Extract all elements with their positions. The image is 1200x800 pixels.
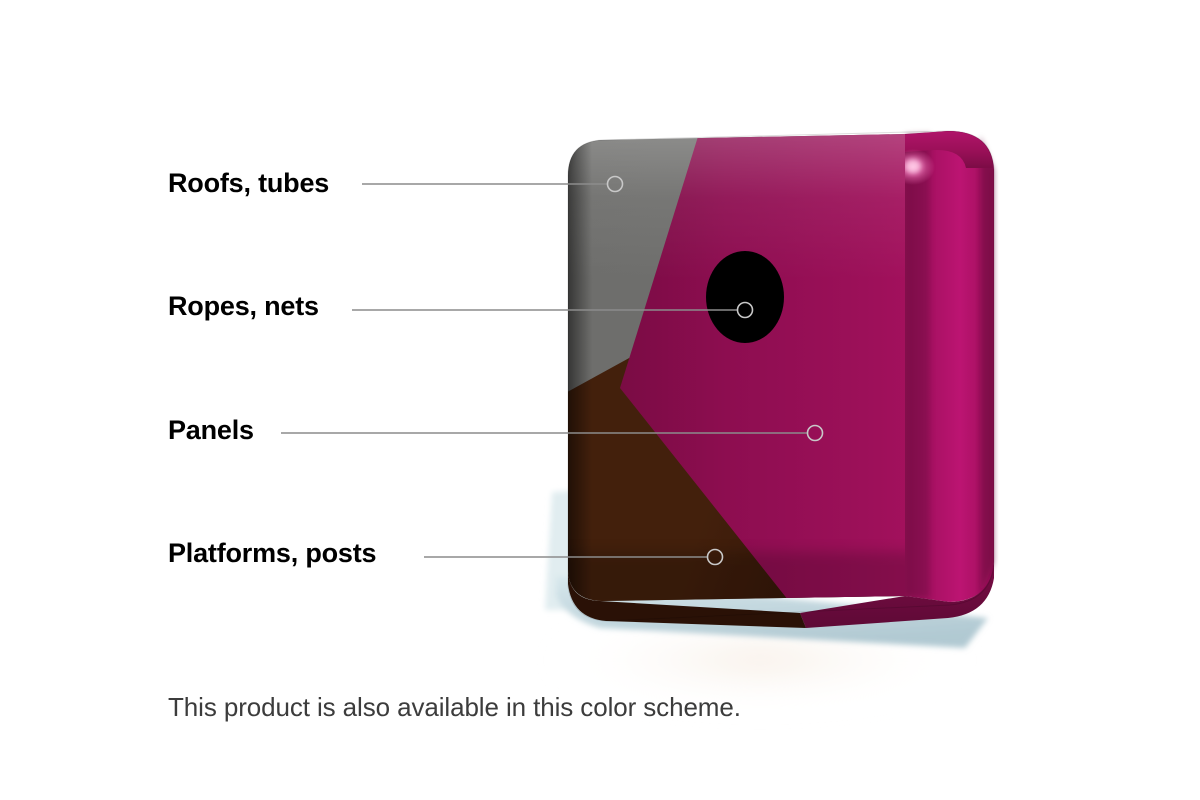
- callout-label-roofs-tubes: Roofs, tubes: [168, 170, 329, 197]
- callout-leader-lines: [0, 0, 1200, 800]
- callout-marker-circle-icon[interactable]: [708, 550, 723, 565]
- callout-label-panels: Panels: [168, 417, 254, 444]
- callout-marker-circle-icon[interactable]: [738, 303, 753, 318]
- callout-marker-circle-icon[interactable]: [608, 177, 623, 192]
- callout-label-platforms-posts: Platforms, posts: [168, 540, 376, 567]
- callout-marker-circle-icon[interactable]: [808, 426, 823, 441]
- figure-caption: This product is also available in this c…: [168, 692, 741, 723]
- figure-canvas: Roofs, tubes Ropes, nets Panels Platform…: [0, 0, 1200, 800]
- callout-label-ropes-nets: Ropes, nets: [168, 293, 319, 320]
